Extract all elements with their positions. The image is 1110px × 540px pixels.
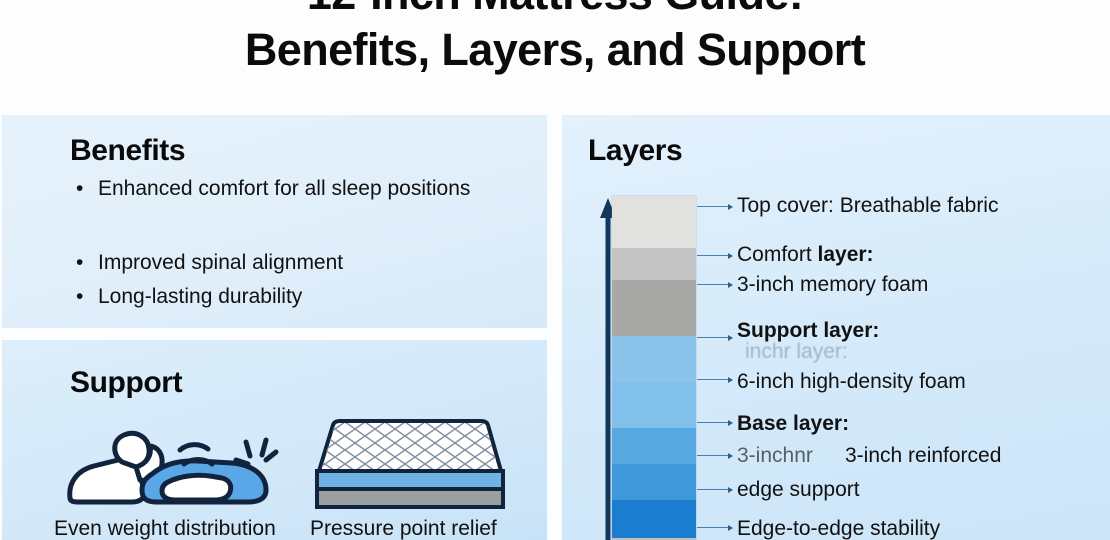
connector-line: [697, 255, 732, 256]
sleeping-person-icon: [60, 412, 292, 520]
connector-line: [697, 489, 732, 490]
list-item: • Long-lasting durability: [70, 284, 540, 310]
connector-line: [697, 379, 732, 380]
layer-callout-base: Base layer:: [737, 411, 849, 437]
bullet-icon: •: [76, 284, 83, 310]
layer-callout-support-detail: 6-inch high-density foam: [737, 369, 966, 395]
layer-band: [612, 382, 696, 428]
title-line-2: Benefits, Layers, and Support: [0, 22, 1110, 78]
mattress-icon: [305, 415, 513, 515]
layer-band: [612, 280, 696, 336]
artifact-ghost-text-1: inchr layer:: [745, 339, 848, 365]
benefits-list: • Enhanced comfort for all sleep positio…: [70, 176, 540, 310]
header: 12-Inch Mattress Guide: Benefits, Layers…: [0, 0, 1110, 112]
title-line-1: 12-Inch Mattress Guide:: [0, 0, 1110, 22]
bullet-icon: •: [76, 250, 83, 276]
layer-callout-edge-stability: Edge-to-edge stability: [737, 516, 940, 540]
list-item-label: Enhanced comfort for all sleep positions: [98, 177, 470, 200]
support-caption-left: Even weight distribution: [54, 516, 276, 540]
connector-line: [697, 527, 732, 528]
layer-stack: [612, 196, 696, 540]
list-item: • Enhanced comfort for all sleep positio…: [70, 176, 540, 202]
support-caption-right: Pressure point relief: [310, 516, 497, 540]
layers-heading: Layers: [588, 134, 682, 168]
layer-callout-comfort-detail: 3-inch memory foam: [737, 272, 928, 298]
bullet-icon: •: [76, 176, 83, 202]
layer-callout-top-cover: Top cover: Breathable fabric: [737, 193, 998, 219]
benefits-heading: Benefits: [70, 134, 185, 168]
layer-band: [612, 500, 696, 538]
layer-band: [612, 196, 696, 248]
callout-text: Comfort: [737, 243, 818, 266]
layer-band: [612, 248, 696, 280]
list-item: • Improved spinal alignment: [70, 250, 540, 276]
list-item-label: Improved spinal alignment: [98, 251, 343, 274]
connector-line: [697, 284, 732, 285]
infographic-canvas: 12-Inch Mattress Guide: Benefits, Layers…: [0, 0, 1110, 540]
callout-emphasis: layer:: [818, 243, 874, 266]
layer-band: [612, 336, 696, 382]
connector-line: [697, 422, 732, 423]
layer-band: [612, 428, 696, 464]
page-title: 12-Inch Mattress Guide: Benefits, Layers…: [0, 0, 1110, 78]
layer-callout-base-detail-2: edge support: [737, 477, 860, 503]
artifact-ghost-text-2: 3-inchnr: [737, 443, 813, 469]
list-item-label: Long-lasting durability: [98, 285, 302, 308]
connector-line: [697, 337, 732, 338]
callout-emphasis: Base: [737, 412, 793, 435]
callout-emphasis: layer:: [793, 412, 849, 435]
support-heading: Support: [70, 366, 182, 400]
layer-callout-base-detail: 3-inch reinforced: [845, 443, 1001, 469]
layer-callout-comfort: Comfort layer:: [737, 242, 874, 268]
connector-line: [697, 206, 732, 207]
connector-line: [697, 455, 732, 456]
layer-band: [612, 464, 696, 500]
